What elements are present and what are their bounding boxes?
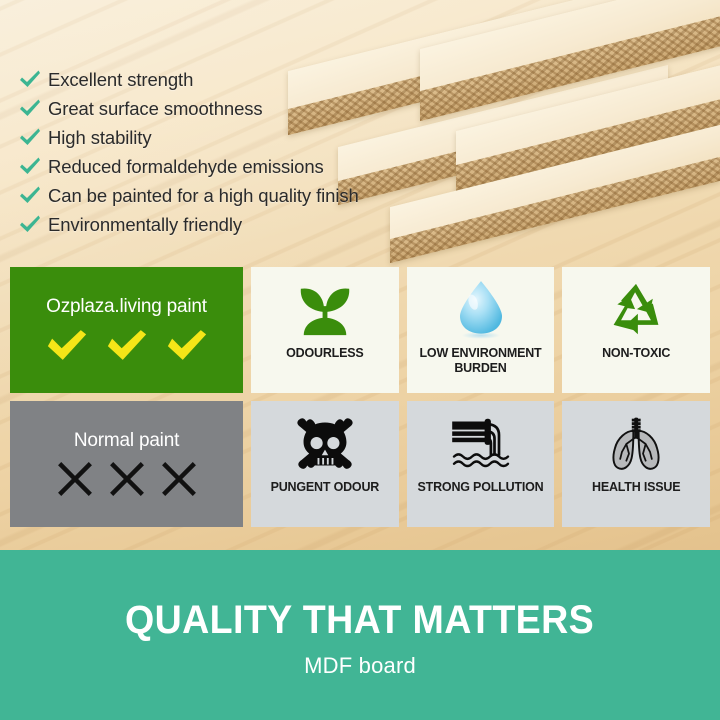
black-x-icon: [161, 461, 197, 502]
comparison-row-good: Ozplaza.living paint: [10, 267, 710, 393]
feature-item: Reduced formaldehyde emissions: [18, 153, 418, 181]
feature-item: Environmentally friendly: [18, 211, 418, 239]
yellow-check-icon: [105, 328, 149, 367]
feature-label: Reduced formaldehyde emissions: [48, 156, 324, 178]
check-icon: [18, 98, 42, 120]
benefit-label: NON-TOXIC: [602, 346, 670, 361]
comparison-row-bad: Normal paint: [10, 401, 710, 527]
feature-item: Great surface smoothness: [18, 95, 418, 123]
pipe-wastewater-icon: [445, 410, 517, 478]
brand-paint-label: Ozplaza.living paint: [46, 296, 207, 318]
check-icon: [18, 156, 42, 178]
infographic-page: Excellent strength Great surface smoothn…: [0, 0, 720, 720]
feature-label: Can be painted for a high quality finish: [48, 185, 359, 207]
risk-cell-health-issue: HEALTH ISSUE: [562, 401, 710, 527]
feature-list: Excellent strength Great surface smoothn…: [18, 66, 418, 240]
feature-label: Environmentally friendly: [48, 214, 242, 236]
bottom-banner: QUALITY THAT MATTERS MDF board: [0, 550, 720, 720]
check-icon: [18, 214, 42, 236]
risk-cell-strong-pollution: STRONG POLLUTION: [407, 401, 555, 527]
feature-label: Excellent strength: [48, 69, 193, 91]
brand-paint-panel: Ozplaza.living paint: [10, 267, 243, 393]
benefit-label: LOW ENVIRONMENT BURDEN: [413, 346, 549, 376]
benefit-cell-low-environment-burden: LOW ENVIRONMENT BURDEN: [407, 267, 555, 393]
risk-label: HEALTH ISSUE: [592, 480, 680, 495]
yellow-check-group: [45, 328, 209, 366]
check-icon: [18, 185, 42, 207]
normal-paint-label: Normal paint: [74, 430, 179, 452]
black-x-icon: [57, 461, 93, 502]
benefit-cell-non-toxic: NON-TOXIC: [562, 267, 710, 393]
risk-cell-pungent-odour: PUNGENT ODOUR: [251, 401, 399, 527]
normal-paint-panel: Normal paint: [10, 401, 243, 527]
recycle-icon: [606, 276, 666, 344]
skull-crossbones-icon: [292, 410, 358, 478]
sprout-icon: [294, 276, 356, 344]
risk-label: STRONG POLLUTION: [418, 480, 544, 495]
feature-item: High stability: [18, 124, 418, 152]
yellow-check-icon: [165, 328, 209, 367]
comparison-grid: Ozplaza.living paint: [10, 267, 710, 535]
benefit-cell-odourless: ODOURLESS: [251, 267, 399, 393]
water-drop-icon: [453, 276, 509, 344]
lungs-icon: [605, 410, 667, 478]
yellow-check-icon: [45, 328, 89, 367]
black-x-group: [57, 462, 197, 500]
check-icon: [18, 69, 42, 91]
feature-item: Excellent strength: [18, 66, 418, 94]
check-icon: [18, 127, 42, 149]
banner-title: QUALITY THAT MATTERS: [125, 598, 594, 643]
feature-item: Can be painted for a high quality finish: [18, 182, 418, 210]
risk-label: PUNGENT ODOUR: [271, 480, 380, 495]
banner-subtitle: MDF board: [304, 653, 416, 679]
feature-label: High stability: [48, 127, 151, 149]
benefit-label: ODOURLESS: [286, 346, 363, 361]
black-x-icon: [109, 461, 145, 502]
feature-label: Great surface smoothness: [48, 98, 263, 120]
